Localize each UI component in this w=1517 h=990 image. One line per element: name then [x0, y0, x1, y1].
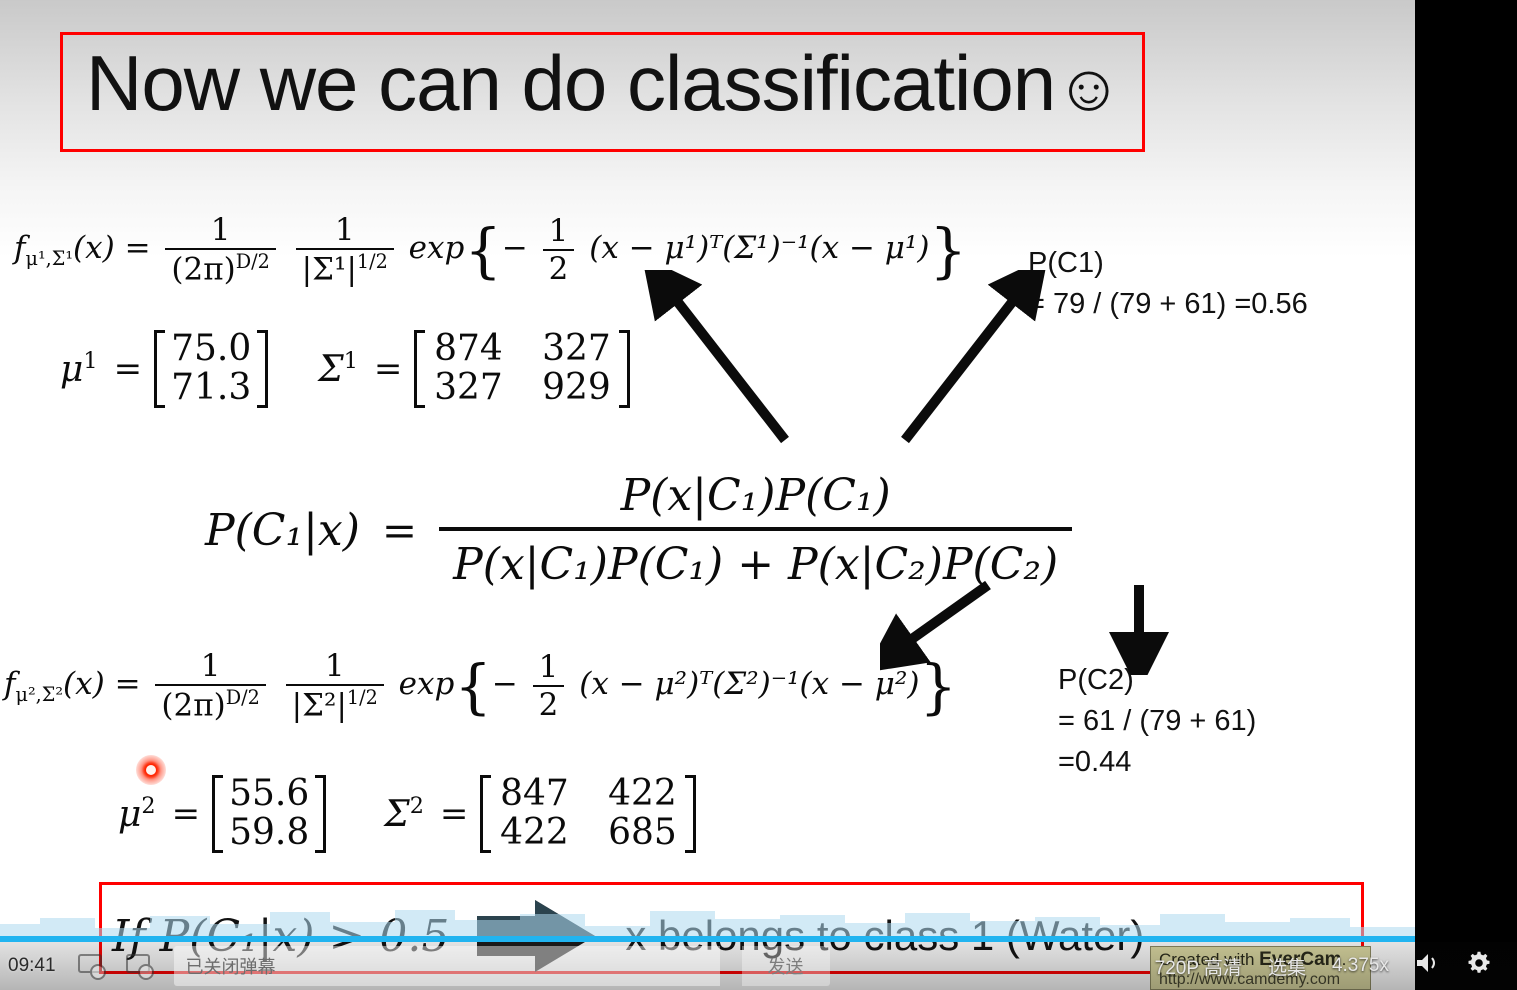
sigma1-label: Σ1: [318, 348, 358, 390]
prior-c2-line3: =0.44: [1058, 742, 1256, 783]
send-button[interactable]: 发送: [742, 946, 830, 986]
sigma2-matrix: 847422 422685: [480, 775, 696, 853]
sigma1-equals: =: [374, 349, 403, 389]
title-label: Now we can do classification: [86, 39, 1055, 127]
bayes-numerator: P(x|C₁)P(C₁): [607, 470, 905, 527]
mu1-cells: 75.0 71.3: [165, 330, 257, 408]
volume-icon[interactable]: [1415, 952, 1441, 980]
bracket-left: [480, 775, 491, 853]
sigma2-cells: 847422 422685: [491, 775, 685, 853]
mu2-matrix: 55.6 59.8: [212, 775, 326, 853]
gauss1-body: (x − μ¹)ᵀ(Σ¹)⁻¹(x − μ¹): [589, 230, 929, 266]
gauss2-lhs: fμ²,Σ²(x): [4, 666, 105, 702]
danmu-settings-icon[interactable]: [126, 954, 152, 978]
progress-heatmap: [0, 898, 1415, 938]
arrow-up-left-icon: [620, 270, 1060, 460]
control-bar-left: 09:41 已关闭弹幕 发送: [0, 946, 1108, 986]
mu1-label: μ1: [60, 348, 98, 390]
danmu-off-icon[interactable]: [78, 954, 104, 978]
class2-parameters: μ2 = 55.6 59.8 Σ2 = 847422 422685: [118, 775, 698, 853]
sigma2-label: Σ2: [384, 793, 424, 835]
gauss1-equals: =: [125, 230, 151, 266]
bayes-equals: =: [382, 506, 417, 555]
bayes-lhs: P(C₁|x): [205, 505, 360, 556]
gauss2-exp: exp: [399, 666, 455, 702]
gauss2-frac2: 1 |Σ²|1/2: [286, 648, 384, 723]
gauss2-minus: −: [492, 666, 518, 702]
page-title: Now we can do classification☺: [86, 44, 1122, 122]
prior-c2-line2: = 61 / (79 + 61): [1058, 701, 1256, 742]
gauss1-brace-open: {: [464, 216, 501, 285]
prior-c1-note: P(C1) = 79 / (79 + 61) =0.56: [1028, 243, 1308, 325]
player-control-bar: 09:41 已关闭弹幕 发送 720P 高清 选集 4.375x: [0, 942, 1517, 990]
gauss2-brace-close: }: [919, 652, 956, 721]
bracket-right: [257, 330, 268, 408]
gauss1-frac1-den: (2π)D/2: [165, 248, 275, 287]
smiley-icon: ☺: [1055, 50, 1121, 124]
gauss2-body: (x − μ²)ᵀ(Σ²)⁻¹(x − μ²): [579, 666, 919, 702]
playback-speed-button[interactable]: 4.375x: [1332, 955, 1389, 977]
gauss1-exp: exp: [409, 230, 465, 266]
gauss2-equals: =: [115, 666, 141, 702]
gauss1-minus: −: [502, 230, 528, 266]
gaussian-formula-class2: fμ²,Σ²(x) = 1 (2π)D/2 1 |Σ²|1/2 exp{− 1 …: [4, 648, 957, 723]
prior-c2-line1: P(C2): [1058, 660, 1256, 701]
gauss2-frac1-den: (2π)D/2: [155, 684, 265, 723]
prior-c2-note: P(C2) = 61 / (79 + 61) =0.44: [1058, 660, 1256, 784]
gauss1-lhs: fμ¹,Σ¹(x): [14, 230, 115, 266]
sigma1-cells: 874327 327929: [425, 330, 619, 408]
quality-selector[interactable]: 720P 高清: [1155, 953, 1242, 980]
gauss2-brace-open: {: [454, 652, 491, 721]
bayes-fraction: P(x|C₁)P(C₁) P(x|C₁)P(C₁) + P(x|C₂)P(C₂): [439, 470, 1072, 590]
gauss2-half: 1 2: [533, 649, 565, 723]
gauss2-frac1: 1 (2π)D/2: [155, 648, 265, 723]
video-player-screen: Now we can do classification☺ fμ¹,Σ¹(x) …: [0, 0, 1517, 990]
class1-parameters: μ1 = 75.0 71.3 Σ1 = 874327 327929: [60, 330, 632, 408]
gear-icon[interactable]: [1467, 951, 1491, 981]
danmu-status-input[interactable]: 已关闭弹幕: [174, 946, 720, 986]
gauss1-frac2: 1 |Σ¹|1/2: [296, 212, 394, 287]
episodes-button[interactable]: 选集: [1268, 953, 1306, 980]
bracket-left: [154, 330, 165, 408]
gauss1-frac1: 1 (2π)D/2: [165, 212, 275, 287]
gauss1-half: 1 2: [543, 213, 575, 287]
bracket-left: [414, 330, 425, 408]
control-bar-right: 720P 高清 选集 4.375x: [1155, 951, 1517, 981]
mu2-cells: 55.6 59.8: [223, 775, 315, 853]
gauss2-frac2-den: |Σ²|1/2: [286, 684, 384, 723]
mu2-label: μ2: [118, 793, 156, 835]
bracket-right: [685, 775, 696, 853]
mu1-equals: =: [114, 349, 143, 389]
timecode-label: 09:41: [8, 955, 56, 977]
bracket-right: [315, 775, 326, 853]
mu2-equals: =: [172, 794, 201, 834]
bayes-formula: P(C₁|x) = P(x|C₁)P(C₁) P(x|C₁)P(C₁) + P(…: [205, 470, 1072, 590]
gauss1-frac2-den: |Σ¹|1/2: [296, 248, 394, 287]
sigma2-equals: =: [440, 794, 469, 834]
bracket-left: [212, 775, 223, 853]
prior-c1-line1: P(C1): [1028, 243, 1308, 284]
mu1-matrix: 75.0 71.3: [154, 330, 268, 408]
letterbox-bar: [1415, 0, 1517, 990]
slide-canvas: Now we can do classification☺ fμ¹,Σ¹(x) …: [0, 0, 1415, 990]
sigma1-matrix: 874327 327929: [414, 330, 630, 408]
prior-c1-line2: = 79 / (79 + 61) =0.56: [1028, 284, 1308, 325]
